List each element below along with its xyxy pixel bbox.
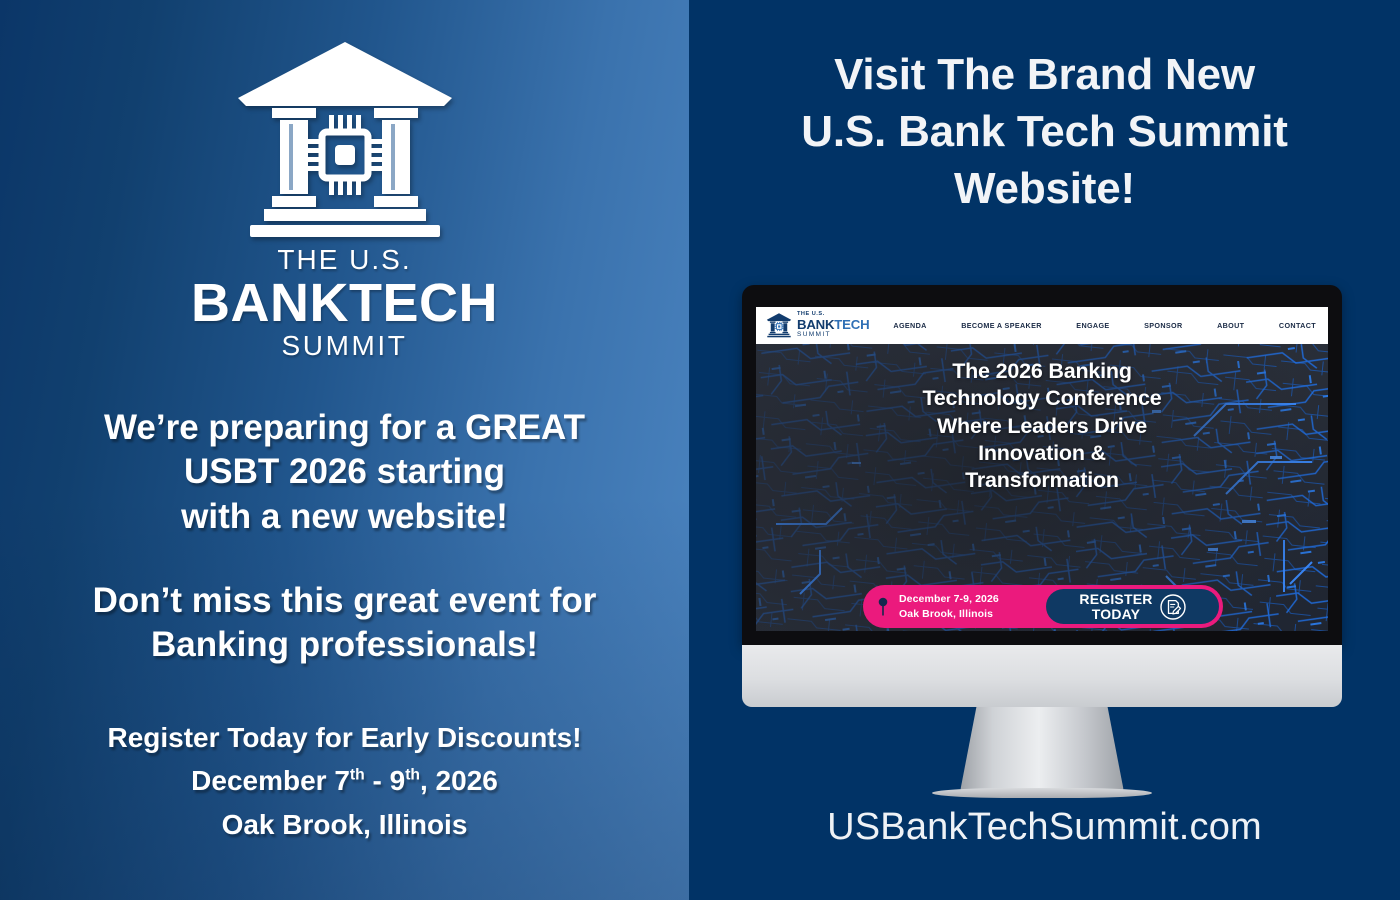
headline-line-2: U.S. Bank Tech Summit [689,103,1400,160]
register-label-line-1: REGISTER [1079,592,1152,607]
cta-date: December 7-9, 2026 [899,592,999,607]
website-url[interactable]: USBankTechSummit.com [689,806,1400,849]
register-cta-text: Register Today for Early Discounts! [25,716,665,759]
website-logo-wordmark: THE U.S. BANKTECH SUMMIT [797,312,869,338]
headline-line-3: Website! [689,160,1400,217]
headline-line-1: Visit The Brand New [689,46,1400,103]
right-panel: Visit The Brand New U.S. Bank Tech Summi… [689,0,1400,900]
register-today-button[interactable]: REGISTER TODAY [1046,589,1219,624]
secondary-copy: Don’t miss this great event for Banking … [25,579,665,668]
register-label-line-2: TODAY [1079,607,1152,622]
hero-line-1: The 2026 Banking [756,358,1328,385]
page-title: Visit The Brand New U.S. Bank Tech Summi… [689,46,1400,218]
nav-item-engage[interactable]: ENGAGE [1076,321,1109,330]
nav-item-contact[interactable]: CONTACT [1279,321,1316,330]
website-logo-tech-text: TECH [834,317,869,332]
event-date-ordinal-2: th [405,767,420,784]
event-date: December 7th - 9th, 2026 [25,759,665,802]
cta-location: Oak Brook, Illinois [899,607,999,622]
event-date-mid: - 9 [365,765,405,796]
logo-the-us: THE U.S. [191,245,498,275]
hero-line-3: Where Leaders Drive [756,413,1328,440]
intro-copy-line-1: We’re preparing for a GREAT [25,406,665,450]
intro-copy-line-2: USBT 2026 starting [25,450,665,494]
logo-banktech: BANKTECH [191,275,498,331]
register-button-label: REGISTER TODAY [1079,592,1152,622]
event-location: Oak Brook, Illinois [25,803,665,846]
hero-line-4: Innovation & [756,440,1328,467]
website-logo-summit: SUMMIT [797,332,869,339]
event-cta-bar: December 7-9, 2026 Oak Brook, Illinois R… [863,585,1223,628]
website-logo[interactable]: THE U.S. BANKTECH SUMMIT [766,312,869,338]
logo-bank-text: BANK [191,273,349,333]
secondary-copy-line-1: Don’t miss this great event for [25,579,665,623]
website-navbar: THE U.S. BANKTECH SUMMIT AGENDA BECOME A… [756,307,1328,344]
hero-line-5: Transformation [756,467,1328,494]
bank-chip-icon [230,36,460,241]
poster-canvas: THE U.S. BANKTECH SUMMIT We’re preparing… [0,0,1400,900]
monitor-screen: THE U.S. BANKTECH SUMMIT AGENDA BECOME A… [756,307,1328,631]
monitor-chin [742,645,1342,707]
event-cta-text: December 7-9, 2026 Oak Brook, Illinois [899,592,999,622]
event-date-prefix: December 7 [191,765,350,796]
logo-summit: SUMMIT [191,331,498,362]
monitor-stand-base [932,788,1152,798]
event-details: Register Today for Early Discounts! Dece… [25,716,665,846]
intro-copy-line-3: with a new website! [25,495,665,539]
intro-copy: We’re preparing for a GREAT USBT 2026 st… [25,406,665,539]
event-date-suffix: , 2026 [420,765,498,796]
logo-tech-text: TECH [349,273,498,333]
hero-line-2: Technology Conference [756,385,1328,412]
brand-logo: THE U.S. BANKTECH SUMMIT [195,36,495,362]
hero-headline: The 2026 Banking Technology Conference W… [756,358,1328,494]
location-pin-icon [877,597,889,616]
monitor-bezel: THE U.S. BANKTECH SUMMIT AGENDA BECOME A… [742,285,1342,645]
nav-item-become-a-speaker[interactable]: BECOME A SPEAKER [961,321,1042,330]
bank-chip-icon [766,312,792,338]
monitor-mockup: THE U.S. BANKTECH SUMMIT AGENDA BECOME A… [742,285,1342,707]
nav-item-about[interactable]: ABOUT [1217,321,1244,330]
website-nav-links: AGENDA BECOME A SPEAKER ENGAGE SPONSOR A… [883,321,1320,330]
document-pencil-icon [1160,594,1186,620]
website-logo-banktech: BANKTECH [797,318,869,331]
secondary-copy-line-2: Banking professionals! [25,623,665,667]
website-hero: The 2026 Banking Technology Conference W… [756,344,1328,631]
monitor-stand-neck [960,707,1124,792]
left-panel: THE U.S. BANKTECH SUMMIT We’re preparing… [0,0,689,900]
nav-item-sponsor[interactable]: SPONSOR [1144,321,1182,330]
nav-item-agenda[interactable]: AGENDA [893,321,926,330]
event-date-ordinal-1: th [350,767,365,784]
brand-logo-wordmark: THE U.S. BANKTECH SUMMIT [191,245,498,362]
